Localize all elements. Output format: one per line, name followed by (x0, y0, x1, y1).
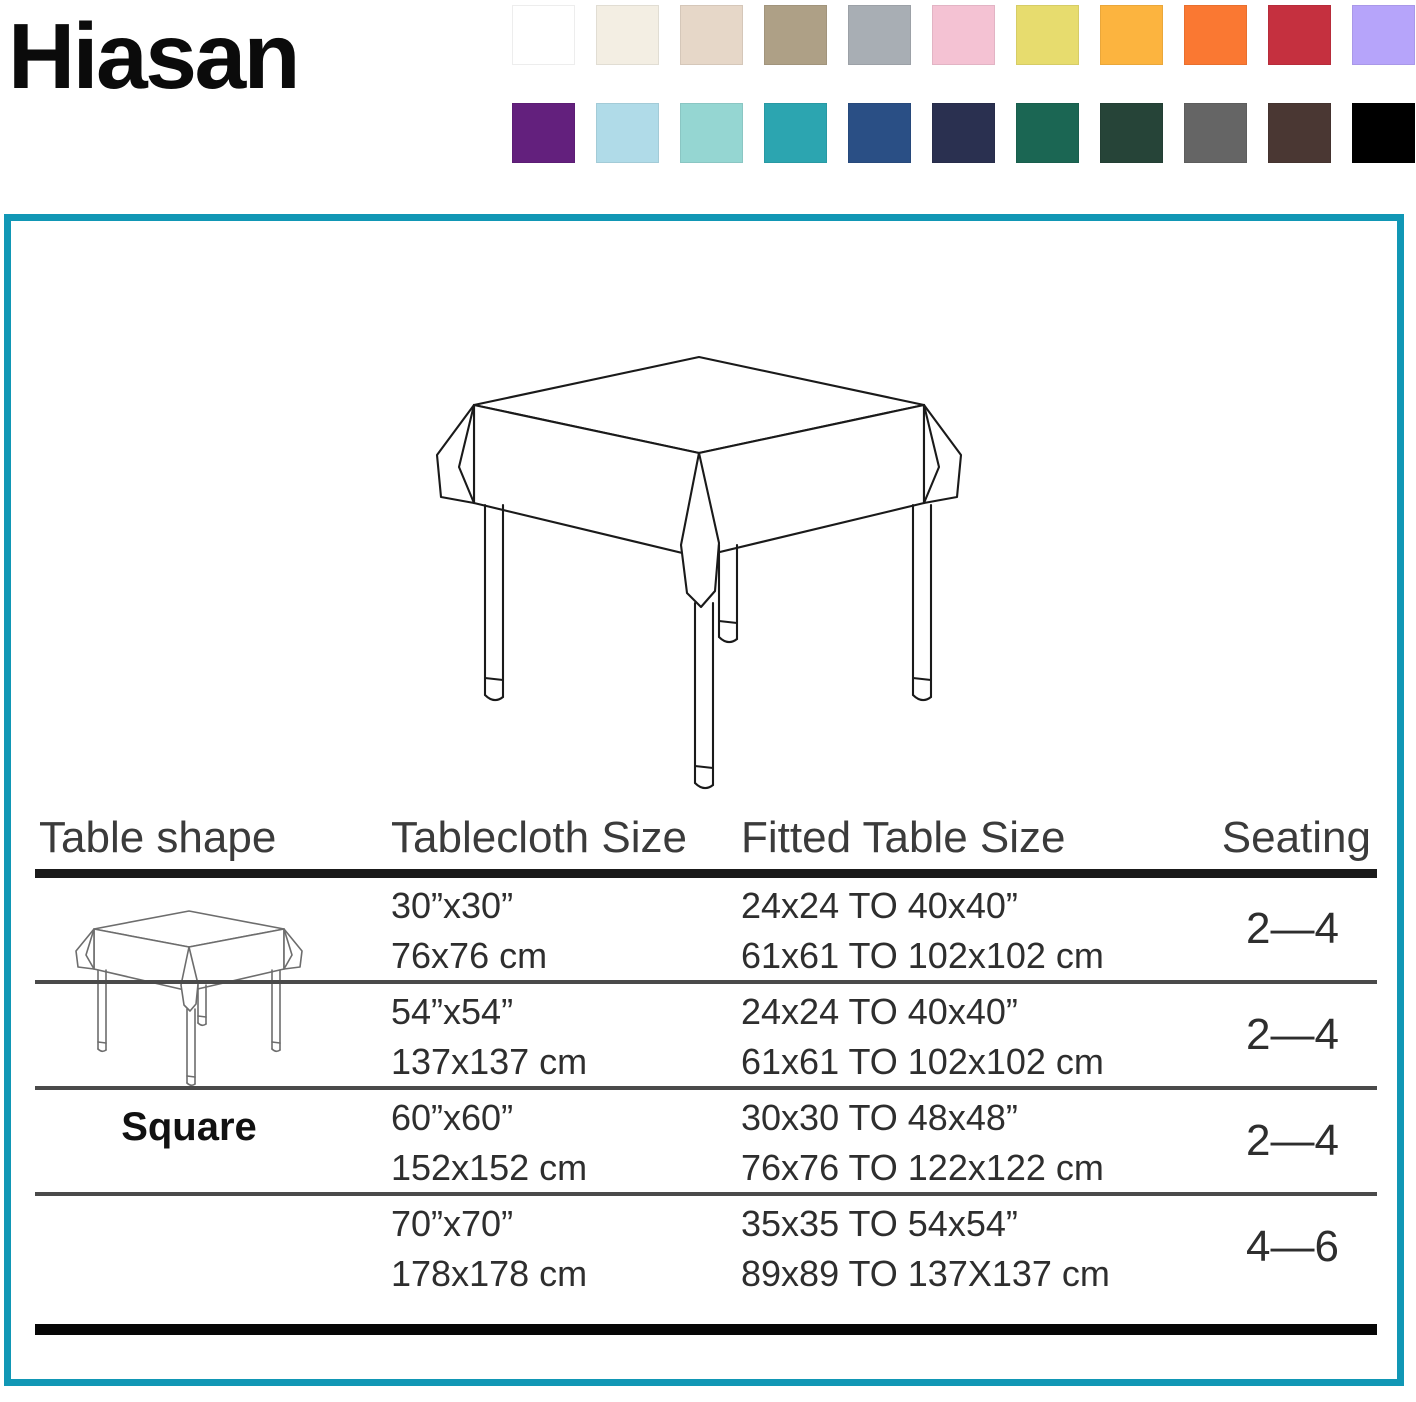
color-swatch-purple[interactable] (512, 103, 575, 163)
spec-table: Table shape Tablecloth Size Fitted Table… (35, 801, 1377, 1335)
color-swatch-red[interactable] (1268, 5, 1331, 65)
table-bottom-divider (35, 1324, 1377, 1335)
cell-fitted-table-size-cm: 76x76 TO 122x122 cm (741, 1147, 1104, 1189)
header-divider (35, 869, 1377, 878)
cell-fitted-table-size-inches: 35x35 TO 54x54” (741, 1203, 1018, 1245)
cell-seating-capacity: 2—4 (1246, 904, 1339, 954)
color-swatch-ivory[interactable] (596, 5, 659, 65)
cell-tablecloth-size-inches: 54”x54” (391, 991, 513, 1033)
color-swatch-emerald[interactable] (1016, 103, 1079, 163)
cell-fitted-table-size-cm: 61x61 TO 102x102 cm (741, 935, 1104, 977)
color-swatch-yellow[interactable] (1016, 5, 1079, 65)
color-swatch-grid (512, 5, 1412, 201)
square-table-illustration (419, 345, 979, 815)
swatch-row-top (512, 5, 1412, 65)
cell-fitted-table-size-cm: 89x89 TO 137X137 cm (741, 1253, 1110, 1295)
color-swatch-black[interactable] (1352, 103, 1415, 163)
cell-fitted-table-size-inches: 30x30 TO 48x48” (741, 1097, 1018, 1139)
cell-fitted-table-size-inches: 24x24 TO 40x40” (741, 885, 1018, 927)
column-header-fitted-table-size: Fitted Table Size (741, 813, 1065, 863)
swatch-row-bottom (512, 103, 1412, 163)
cell-seating-capacity: 4—6 (1246, 1222, 1339, 1272)
cell-tablecloth-size-inches: 60”x60” (391, 1097, 513, 1139)
cell-seating-capacity: 2—4 (1246, 1116, 1339, 1166)
spec-table-row: 30”x30”76x76 cm24x24 TO 40x40”61x61 TO 1… (35, 878, 1377, 980)
color-swatch-lavender[interactable] (1352, 5, 1415, 65)
color-swatch-steel-blue[interactable] (848, 103, 911, 163)
spec-table-row: 60”x60”152x152 cm30x30 TO 48x48”76x76 TO… (35, 1090, 1377, 1192)
cell-tablecloth-size-cm: 152x152 cm (391, 1147, 587, 1189)
cell-tablecloth-size-inches: 70”x70” (391, 1203, 513, 1245)
cell-tablecloth-size-inches: 30”x30” (391, 885, 513, 927)
column-header-seating: Seating (1222, 813, 1371, 863)
color-swatch-white[interactable] (512, 5, 575, 65)
column-header-table-shape: Table shape (39, 813, 276, 863)
spec-table-body: 30”x30”76x76 cm24x24 TO 40x40”61x61 TO 1… (35, 878, 1377, 1298)
color-swatch-dark-brown[interactable] (1268, 103, 1331, 163)
cell-tablecloth-size-cm: 178x178 cm (391, 1253, 587, 1295)
cell-seating-capacity: 2—4 (1246, 1010, 1339, 1060)
color-swatch-taupe[interactable] (764, 5, 827, 65)
color-swatch-forest-green[interactable] (1100, 103, 1163, 163)
color-swatch-beige[interactable] (680, 5, 743, 65)
column-header-tablecloth-size: Tablecloth Size (391, 813, 687, 863)
cell-tablecloth-size-cm: 76x76 cm (391, 935, 547, 977)
color-swatch-mint[interactable] (680, 103, 743, 163)
color-swatch-orange[interactable] (1184, 5, 1247, 65)
cell-tablecloth-size-cm: 137x137 cm (391, 1041, 587, 1083)
cell-fitted-table-size-inches: 24x24 TO 40x40” (741, 991, 1018, 1033)
color-swatch-light-blue[interactable] (596, 103, 659, 163)
color-swatch-gray[interactable] (848, 5, 911, 65)
spec-table-header-row: Table shape Tablecloth Size Fitted Table… (35, 801, 1377, 863)
cell-fitted-table-size-cm: 61x61 TO 102x102 cm (741, 1041, 1104, 1083)
info-panel: Square Table shape Tablecloth Size Fitte… (4, 214, 1404, 1386)
spec-table-row: 70”x70”178x178 cm35x35 TO 54x54”89x89 TO… (35, 1196, 1377, 1298)
color-swatch-teal[interactable] (764, 103, 827, 163)
color-swatch-navy[interactable] (932, 103, 995, 163)
spec-table-row: 54”x54”137x137 cm24x24 TO 40x40”61x61 TO… (35, 984, 1377, 1086)
header-bar: Hiasan (0, 0, 1416, 196)
color-swatch-amber[interactable] (1100, 5, 1163, 65)
color-swatch-dark-gray[interactable] (1184, 103, 1247, 163)
brand-logo: Hiasan (8, 6, 298, 106)
color-swatch-pink[interactable] (932, 5, 995, 65)
